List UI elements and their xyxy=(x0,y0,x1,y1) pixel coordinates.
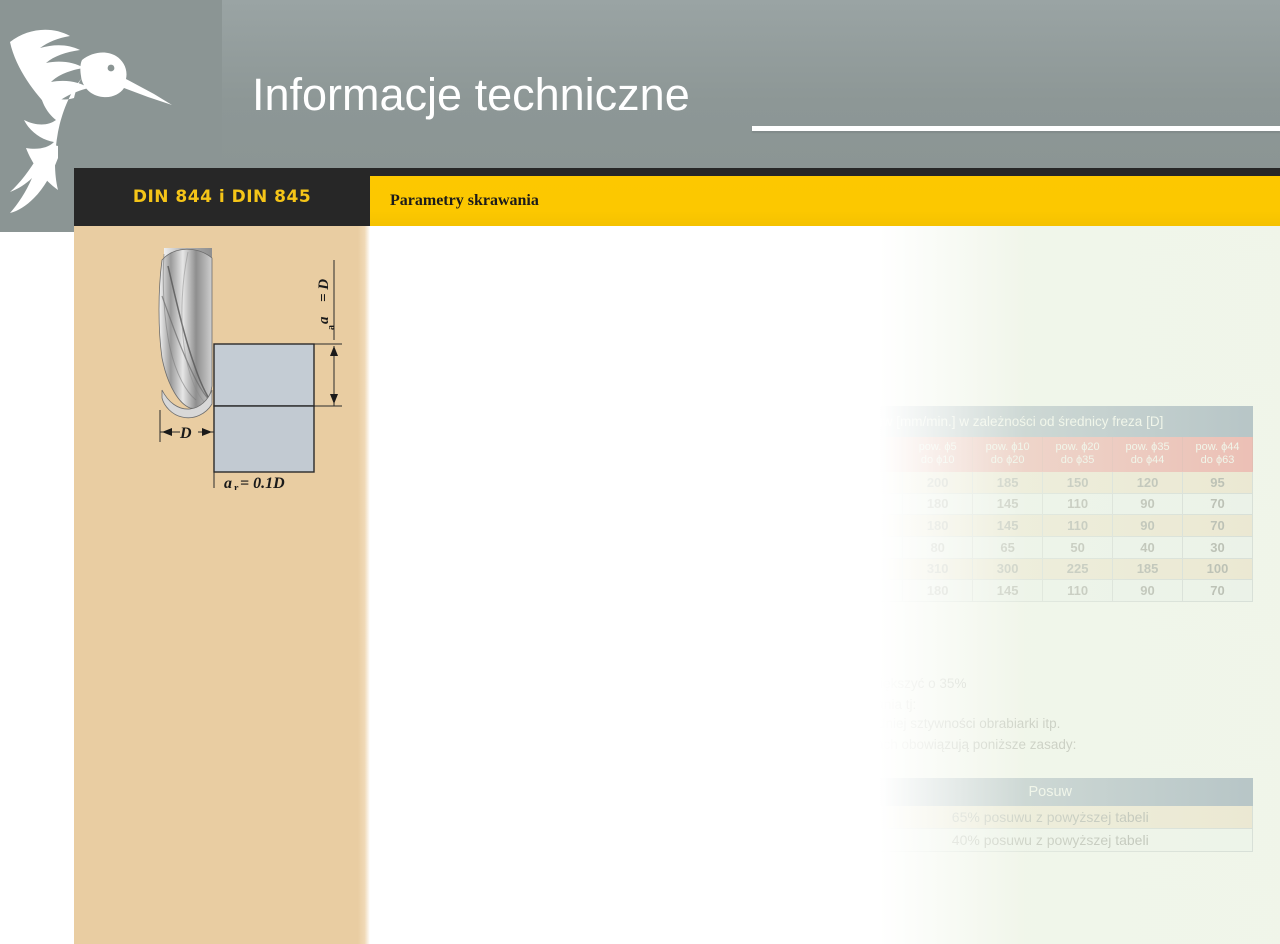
table-row: Stal stopowa Rm ≤ 1000 N/mm 2 15 150 180… xyxy=(444,515,1253,537)
table-row: Stal nierdzewna i kwasoodporna 10 65 80 … xyxy=(444,536,1253,558)
cell-v2: 185 xyxy=(973,472,1043,494)
bullet-icon xyxy=(388,680,394,686)
cell-depth: 0,25D xyxy=(444,806,849,829)
dia-top-4: pow. ϕ35 xyxy=(1115,441,1180,454)
table-row: Stal węglowa Rm ≤ 800 N/mm2 30 180 200 1… xyxy=(444,472,1253,494)
cell-vc: 30 xyxy=(763,472,833,494)
cell-depth: 0,5D xyxy=(444,829,849,852)
material-sup: 2 xyxy=(654,474,660,485)
cell-v2: 65 xyxy=(973,536,1043,558)
bullet-icon xyxy=(388,701,394,707)
cell-vc: 10 xyxy=(763,536,833,558)
notes-list: Dla frezów wykonanych ze stali SK8M (HSS… xyxy=(382,674,1272,756)
depth-feed-table-wrap: Głębokość skrawania Posuw 0,25D 65% posu… xyxy=(443,778,1253,852)
cell-vc: 30 xyxy=(763,558,833,580)
note-item: Dla frezów wykonanych ze stali SK8M (HSS… xyxy=(382,674,1272,693)
bottom-header-depth: Głębokość skrawania xyxy=(444,779,849,806)
cell-v1: 180 xyxy=(903,580,973,602)
cell-v4: 40 xyxy=(1113,536,1183,558)
cell-v3: 225 xyxy=(1043,558,1113,580)
table-row: Żeliwo sferoidalne 22 150 180 145 110 90… xyxy=(444,580,1253,602)
cutting-parameters-table-wrap: Rodzaj obrabianego materiału Posuw [mm/m… xyxy=(443,406,1253,602)
page-title: Informacje techniczne xyxy=(252,72,690,117)
bullet-icon xyxy=(388,887,394,893)
material-text: Żeliwo sferoidalne xyxy=(466,583,579,599)
cell-v4: 90 xyxy=(1113,493,1183,515)
page-root: Informacje techniczne DIN 844 i DIN 845 … xyxy=(0,0,1280,944)
material-sup: 2 xyxy=(664,517,670,528)
standard-badge: DIN 844 i DIN 845 xyxy=(74,168,370,226)
content-area: Zalecane parametry skrawania dla frezów … xyxy=(370,226,1280,944)
cell-v3: 50 xyxy=(1043,536,1113,558)
cell-material: Stal węglowa Rm ≤ 800 N/mm2 xyxy=(444,472,763,494)
cell-material: Stal stopowa Rm ≤ 1000 N/mm 2 xyxy=(444,515,763,537)
cell-material: Żeliwo sferoidalne xyxy=(444,580,763,602)
svg-text:r: r xyxy=(234,483,239,490)
intro-line-4: - pokrytych powłoką BALINIT A xyxy=(395,332,1015,358)
cell-v0: 150 xyxy=(833,515,903,537)
table-row: 0,25D 65% posuwu z powyższej tabeli xyxy=(444,806,1253,829)
header-dia-2: pow. ϕ10 do ϕ20 xyxy=(973,437,1043,472)
cell-v2: 145 xyxy=(973,493,1043,515)
note-item: Przy odmianie długiej „L" wartość posuwu… xyxy=(382,881,1272,900)
header-span-feed: Posuw [mm/min.] w zależności od średnicy… xyxy=(763,407,1253,437)
cell-v0: 180 xyxy=(833,472,903,494)
header-dia-3: pow. ϕ20 do ϕ35 xyxy=(1043,437,1113,472)
note-item: Powyższe parametry mogą być stosowane pr… xyxy=(382,695,1272,733)
notes-heading: UWAGI xyxy=(395,630,497,660)
bottom-header-feed: Posuw xyxy=(848,779,1253,806)
cell-v1: 180 xyxy=(903,515,973,537)
cell-v5: 100 xyxy=(1183,558,1253,580)
dim-label-ar: a xyxy=(224,475,232,490)
dark-strip xyxy=(370,168,1280,176)
end-mill-diagram: a a = D D a r = 0.1D xyxy=(128,240,368,490)
cell-feed: 40% posuwu z powyższej tabeli xyxy=(848,829,1253,852)
bottom-header-row: Głębokość skrawania Posuw xyxy=(444,779,1253,806)
cell-v3: 110 xyxy=(1043,493,1113,515)
intro-paragraph: Zalecane parametry skrawania dla frezów … xyxy=(395,254,1015,358)
material-text: Stal węglowa narz. Rm≤ 1000 N/mm xyxy=(466,496,693,512)
cell-v1: 200 xyxy=(903,472,973,494)
note-text: Wartości posuwów dotyczą głębokości skra… xyxy=(406,737,1076,752)
dia-top-5: pow. ϕ44 xyxy=(1185,441,1250,454)
dia-bottom-5: do ϕ63 xyxy=(1185,454,1250,467)
dia-top-3: pow. ϕ20 xyxy=(1045,441,1110,454)
material-sup: 2 xyxy=(693,496,699,507)
svg-text:a: a xyxy=(326,325,337,330)
dia-bottom-3: do ϕ35 xyxy=(1045,454,1110,467)
intro-line-1: Zalecane parametry skrawania dla frezów … xyxy=(395,254,1015,280)
note-item: Wartości posuwów dotyczą głębokości skra… xyxy=(382,735,1272,754)
dim-label-aa: a xyxy=(316,316,332,324)
intro-line-2: walcowo-czołowychDIN 844 i DIN 845 wykon… xyxy=(395,280,1015,306)
cell-v4: 90 xyxy=(1113,580,1183,602)
cell-v3: 150 xyxy=(1043,472,1113,494)
table-row: Żeliwo szare i ciągliwe 30 300 310 300 2… xyxy=(444,558,1253,580)
note-text: Przy odmianie długiej „L" wartość posuwu… xyxy=(406,883,826,898)
dia-bottom-0: do ϕ5 xyxy=(854,454,882,466)
final-note: Przy odmianie długiej „L" wartość posuwu… xyxy=(382,881,1272,902)
cell-v5: 70 xyxy=(1183,515,1253,537)
cell-v4: 90 xyxy=(1113,515,1183,537)
intro-line-3: SW7M (HSS) do obróbki materiałów z grupy… xyxy=(395,306,1015,332)
material-text: Stal stopowa Rm ≤ 1000 N/mm xyxy=(466,518,664,534)
header-vc: Vc[m/min.] xyxy=(763,437,833,472)
title-underline-rule xyxy=(752,126,1280,131)
material-text: Stal nierdzewna i kwasoodporna xyxy=(466,540,668,556)
section-bar-label: Parametry skrawania xyxy=(390,176,539,226)
cell-material: Żeliwo szare i ciągliwe xyxy=(444,558,763,580)
dia-bottom-2: do ϕ20 xyxy=(975,454,1040,467)
cell-feed: 65% posuwu z powyższej tabeli xyxy=(848,806,1253,829)
note-text: Dla frezów wykonanych ze stali SK8M (HSS… xyxy=(406,676,966,691)
cell-v0: 150 xyxy=(833,493,903,515)
vc-unit: [m/min.] xyxy=(786,449,825,461)
section-bar: Parametry skrawania xyxy=(370,176,1280,226)
cell-v1: 310 xyxy=(903,558,973,580)
cell-material: Stal węglowa narz. Rm≤ 1000 N/mm2 xyxy=(444,493,763,515)
dia-bottom-4: do ϕ44 xyxy=(1115,454,1180,467)
header-dia-4: pow. ϕ35 do ϕ44 xyxy=(1113,437,1183,472)
table-row: 0,5D 40% posuwu z powyższej tabeli xyxy=(444,829,1253,852)
cell-v5: 30 xyxy=(1183,536,1253,558)
cell-v4: 185 xyxy=(1113,558,1183,580)
material-text: Żeliwo szare i ciągliwe xyxy=(466,561,605,577)
cell-v2: 145 xyxy=(973,515,1043,537)
cell-v2: 300 xyxy=(973,558,1043,580)
table-header-row-1: Rodzaj obrabianego materiału Posuw [mm/m… xyxy=(444,407,1253,437)
header-material: Rodzaj obrabianego materiału xyxy=(444,407,763,472)
cell-v5: 70 xyxy=(1183,493,1253,515)
dia-bottom-1: do ϕ10 xyxy=(905,454,970,467)
cell-v3: 110 xyxy=(1043,515,1113,537)
cell-v4: 120 xyxy=(1113,472,1183,494)
header-dia-0: do ϕ5 xyxy=(833,437,903,472)
note-text: Powyższe parametry mogą być stosowane pr… xyxy=(406,697,916,712)
header-dia-1: pow. ϕ5 do ϕ10 xyxy=(903,437,973,472)
depth-feed-table: Głębokość skrawania Posuw 0,25D 65% posu… xyxy=(443,778,1253,852)
standard-badge-label: DIN 844 i DIN 845 xyxy=(74,168,370,226)
cell-v3: 110 xyxy=(1043,580,1113,602)
vc-symbol: V xyxy=(771,445,780,461)
cell-v0: 300 xyxy=(833,558,903,580)
cell-vc: 22 xyxy=(763,580,833,602)
cell-v2: 145 xyxy=(973,580,1043,602)
cell-v1: 80 xyxy=(903,536,973,558)
cell-v5: 95 xyxy=(1183,472,1253,494)
cell-vc: 15 xyxy=(763,515,833,537)
cell-material: Stal nierdzewna i kwasoodporna xyxy=(444,536,763,558)
cell-v5: 70 xyxy=(1183,580,1253,602)
note-subtext: obfitym chłodzeniu, właściwie dobranym d… xyxy=(406,714,1272,733)
material-text: Stal węglowa Rm ≤ 800 N/mm xyxy=(466,475,654,491)
bullet-icon xyxy=(388,741,394,747)
workpiece-upper xyxy=(214,344,314,406)
cell-v0: 65 xyxy=(833,536,903,558)
workpiece-lower xyxy=(214,406,314,472)
cell-v1: 180 xyxy=(903,493,973,515)
header-dia-5: pow. ϕ44 do ϕ63 xyxy=(1183,437,1253,472)
cutting-parameters-table: Rodzaj obrabianego materiału Posuw [mm/m… xyxy=(443,406,1253,602)
table-row: Stal węglowa narz. Rm≤ 1000 N/mm2 22 150… xyxy=(444,493,1253,515)
svg-text:= 0.1D: = 0.1D xyxy=(240,475,285,490)
svg-text:= D: = D xyxy=(316,279,332,302)
dia-top-2: pow. ϕ10 xyxy=(975,441,1040,454)
dim-label-d: D xyxy=(179,425,192,442)
cell-v0: 150 xyxy=(833,580,903,602)
dia-top-1: pow. ϕ5 xyxy=(905,441,970,454)
cell-vc: 22 xyxy=(763,493,833,515)
